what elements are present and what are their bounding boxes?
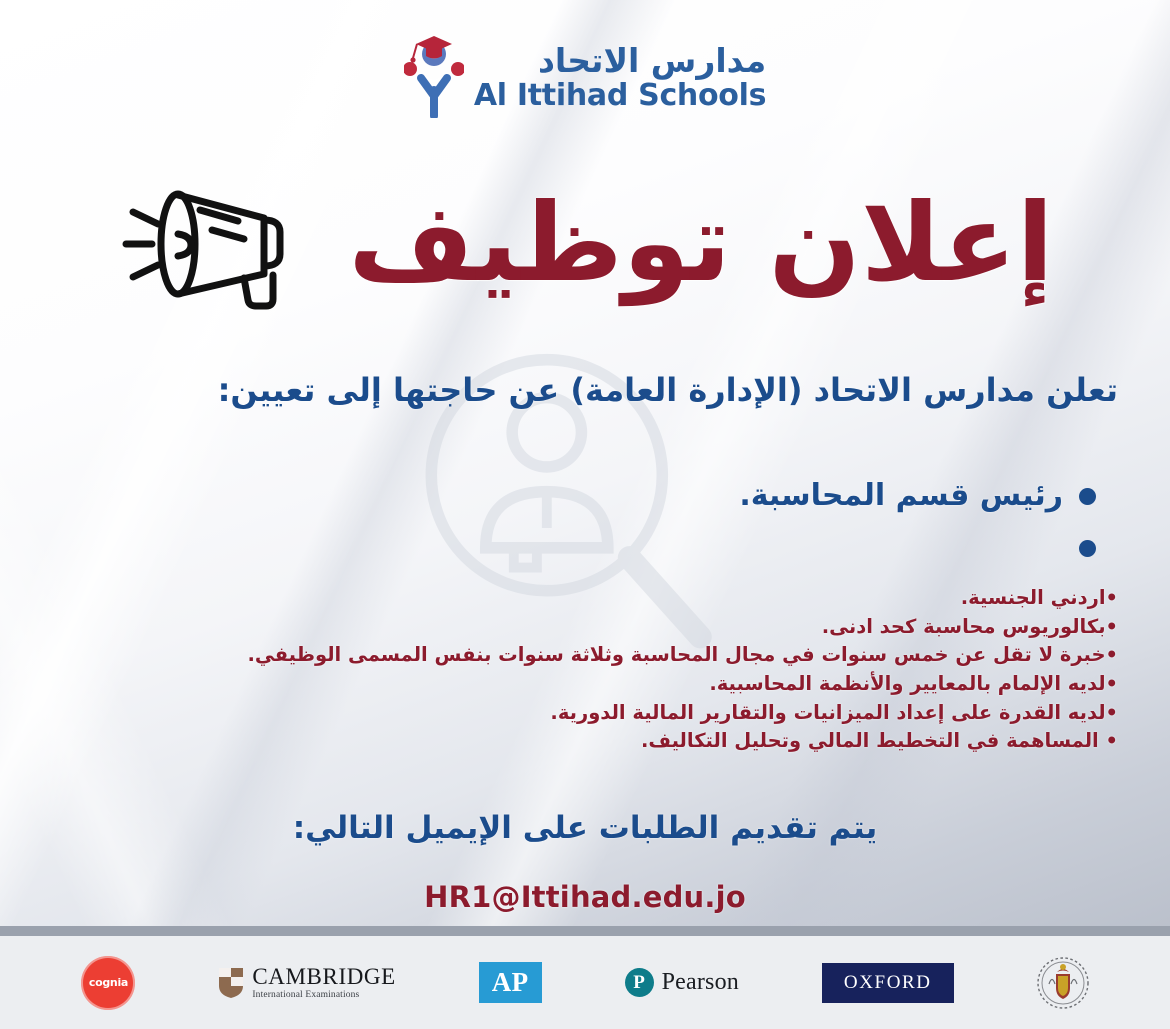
cambridge-sublabel: International Examinations <box>252 991 395 1001</box>
cambridge-shield-icon <box>218 967 244 999</box>
cognia-seal-icon: cognia <box>81 956 135 1010</box>
list-item: • المساهمة في التخطيط المالي وتحليل التك… <box>52 727 1118 756</box>
list-item: •بكالوريوس محاسبة كحد ادنى. <box>52 613 1118 642</box>
requirements-list: •اردني الجنسية. •بكالوريوس محاسبة كحد اد… <box>52 584 1118 756</box>
pearson-mark-letter: P <box>633 973 645 992</box>
announcement-subtitle: تعلن مدارس الاتحاد (الإدارة العامة) عن ح… <box>52 370 1118 412</box>
pearson-label: Pearson <box>662 969 739 996</box>
application-instruction: يتم تقديم الطلبات على الإيميل التالي: <box>52 810 1118 846</box>
cognia-logo: cognia <box>81 956 135 1010</box>
ap-label: AP <box>492 967 529 998</box>
jordan-moe-emblem <box>1037 954 1089 1012</box>
pearson-mark-icon: P <box>625 968 654 997</box>
cambridge-label: CAMBRIDGE <box>252 965 395 988</box>
brand-logo-text: مدارس الاتحاد Al Ittihad Schools <box>474 30 766 112</box>
list-item: •خبرة لا تقل عن خمس سنوات في مجال المحاس… <box>52 641 1118 670</box>
list-item: رئيس قسم المحاسبة. <box>52 470 1118 522</box>
brand-name-arabic: مدارس الاتحاد <box>474 44 766 79</box>
list-item: •اردني الجنسية. <box>52 584 1118 613</box>
bullet-icon <box>1079 540 1096 557</box>
list-item <box>52 522 1118 574</box>
oxford-logo: OXFORD <box>822 963 954 1003</box>
bullet-icon <box>1079 488 1096 505</box>
poster-title-row: إعلان توظيف <box>0 178 1170 310</box>
pearson-logo: P Pearson <box>625 968 739 997</box>
oxford-label: OXFORD <box>844 972 932 993</box>
list-item: •لديه القدرة على إعداد الميزانيات والتقا… <box>52 699 1118 728</box>
ap-logo: AP <box>479 962 542 1003</box>
accreditation-footer: cognia CAMBRIDGE International Examinati… <box>0 936 1170 1029</box>
page-title: إعلان توظيف <box>348 190 1053 298</box>
oxford-badge-icon: OXFORD <box>822 963 954 1003</box>
graduate-figure-icon <box>404 30 464 118</box>
job-title: رئيس قسم المحاسبة. <box>739 477 1063 515</box>
recruitment-poster: مدارس الاتحاد Al Ittihad Schools إعلان ت… <box>0 0 1170 1029</box>
megaphone-icon <box>116 178 296 310</box>
application-email[interactable]: HR1@Ittihad.edu.jo <box>52 880 1118 914</box>
job-list: رئيس قسم المحاسبة. <box>52 470 1118 574</box>
cognia-label: cognia <box>89 976 128 989</box>
brand-logo: مدارس الاتحاد Al Ittihad Schools <box>0 30 1170 118</box>
footer-divider <box>0 926 1170 936</box>
cambridge-logo: CAMBRIDGE International Examinations <box>218 965 395 1001</box>
jordan-coat-of-arms-icon <box>1037 954 1089 1012</box>
list-item: •لديه الإلمام بالمعايير والأنظمة المحاسب… <box>52 670 1118 699</box>
brand-name-english: Al Ittihad Schools <box>474 79 766 112</box>
ap-badge-icon: AP <box>479 962 542 1003</box>
